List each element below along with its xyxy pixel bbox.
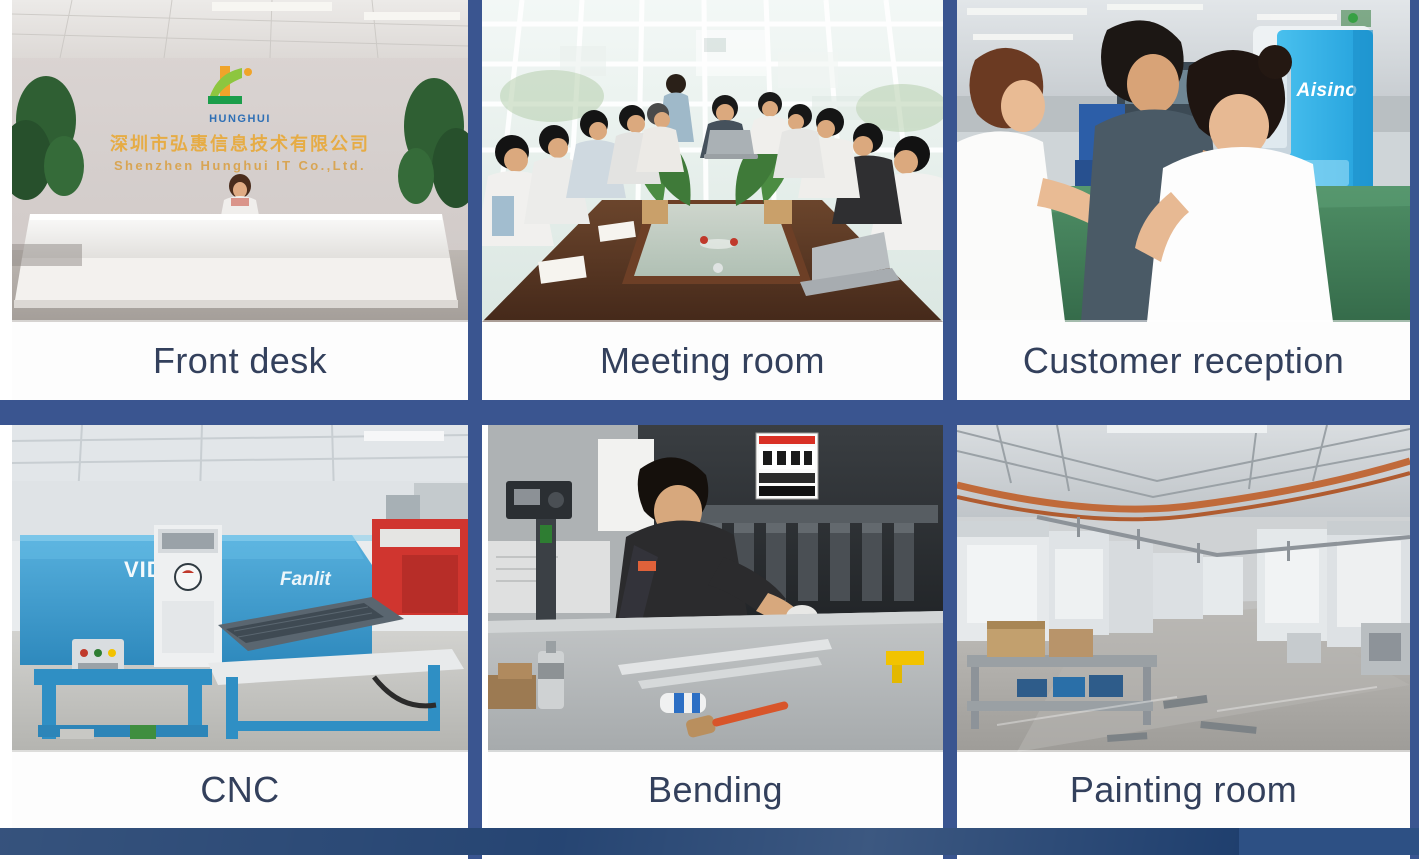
caption-bending: Bending bbox=[488, 752, 943, 828]
svg-text:HUNGHUI: HUNGHUI bbox=[209, 113, 271, 125]
photo-front-desk: HUNGHUI 深圳市弘惠信息技术有限公司 Shenzhen Hunghui I… bbox=[12, 0, 468, 322]
column-divider-1 bbox=[468, 0, 482, 859]
gallery-cell-painting-room[interactable]: Painting room bbox=[957, 425, 1410, 828]
svg-text:Shenzhen Hunghui IT Co.,Ltd.: Shenzhen Hunghui IT Co.,Ltd. bbox=[114, 158, 366, 173]
svg-text:深圳市弘惠信息技术有限公司: 深圳市弘惠信息技术有限公司 bbox=[110, 133, 370, 155]
caption-meeting-room: Meeting room bbox=[482, 322, 943, 400]
footer-band-right-segment bbox=[1239, 828, 1419, 855]
right-edge-band bbox=[1410, 0, 1419, 859]
photo-meeting-room bbox=[482, 0, 943, 322]
caption-front-desk: Front desk bbox=[12, 322, 468, 400]
photo-cnc: VIDE250 Fanlit bbox=[12, 425, 468, 752]
photo-painting-room bbox=[957, 425, 1410, 752]
column-divider-2 bbox=[943, 0, 957, 859]
caption-customer-reception: Customer reception bbox=[957, 322, 1410, 400]
gallery-cell-cnc[interactable]: VIDE250 Fanlit bbox=[12, 425, 468, 828]
footer-band bbox=[0, 828, 1419, 855]
svg-text:Fanlit: Fanlit bbox=[280, 569, 331, 590]
gallery-page: HUNGHUI 深圳市弘惠信息技术有限公司 Shenzhen Hunghui I… bbox=[0, 0, 1419, 859]
photo-bending bbox=[488, 425, 943, 752]
svg-text:Aisino: Aisino bbox=[1295, 80, 1357, 101]
photo-customer-reception: Aisino bbox=[957, 0, 1410, 322]
footer-band-sheen bbox=[0, 828, 1240, 855]
gallery-cell-meeting-room[interactable]: Meeting room bbox=[482, 0, 943, 400]
caption-painting-room: Painting room bbox=[957, 752, 1410, 828]
gallery-cell-customer-reception[interactable]: Aisino bbox=[957, 0, 1410, 400]
row-divider-band bbox=[0, 400, 1419, 425]
gallery-cell-bending[interactable]: Bending bbox=[488, 425, 943, 828]
gallery-cell-front-desk[interactable]: HUNGHUI 深圳市弘惠信息技术有限公司 Shenzhen Hunghui I… bbox=[12, 0, 468, 400]
caption-cnc: CNC bbox=[12, 752, 468, 828]
